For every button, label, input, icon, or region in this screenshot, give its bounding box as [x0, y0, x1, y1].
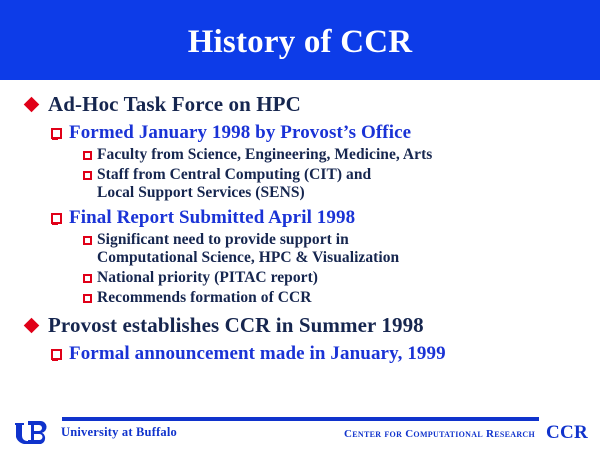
square-bullet-icon [83, 151, 92, 160]
page-title: History of CCR [0, 0, 600, 80]
bullet-level3-national-priority: National priority (PITAC report) [83, 269, 600, 287]
square-bullet-icon [83, 236, 92, 245]
bullet-text: Faculty from Science, Engineering, Medic… [97, 146, 432, 164]
slide-title-band: History of CCR [0, 0, 600, 80]
bullet-text: Significant need to provide support in C… [97, 231, 399, 267]
square-bullet-icon [51, 128, 62, 139]
bullet-text-line1: Significant need to provide support in [97, 231, 399, 249]
center-full-name: Center for Computational Research [344, 428, 535, 440]
bullet-text-line1: Staff from Central Computing (CIT) and [97, 166, 371, 184]
footer-divider [62, 417, 539, 421]
bullet-text: Formal announcement made in January, 199… [69, 342, 446, 365]
slide-body: Ad-Hoc Task Force on HPC Formed January … [0, 86, 600, 406]
bullet-text: Recommends formation of CCR [97, 289, 311, 307]
square-bullet-icon [51, 349, 62, 360]
bullet-level3-significant-need: Significant need to provide support in C… [83, 231, 600, 267]
bullet-level1-ad-hoc-task-force: Ad-Hoc Task Force on HPC [26, 92, 600, 117]
bullet-level3-recommends-formation: Recommends formation of CCR [83, 289, 600, 307]
bullet-level2-formed-january-1998: Formed January 1998 by Provost’s Office [51, 121, 600, 144]
square-bullet-icon [83, 171, 92, 180]
bullet-text: National priority (PITAC report) [97, 269, 318, 287]
bullet-text: Formed January 1998 by Provost’s Office [69, 121, 411, 144]
center-abbreviation: CCR [546, 422, 588, 444]
bullet-text-line2: Local Support Services (SENS) [97, 184, 371, 202]
university-name: University at Buffalo [61, 425, 177, 440]
bullet-text: Ad-Hoc Task Force on HPC [48, 92, 301, 117]
bullet-level1-provost-establishes-ccr: Provost establishes CCR in Summer 1998 [26, 313, 600, 338]
bullet-level2-formal-announcement: Formal announcement made in January, 199… [51, 342, 600, 365]
ub-logo-icon [14, 420, 54, 445]
bullet-text: Provost establishes CCR in Summer 1998 [48, 313, 424, 338]
square-bullet-icon [83, 274, 92, 283]
bullet-text: Final Report Submitted April 1998 [69, 206, 355, 229]
bullet-text: Staff from Central Computing (CIT) and L… [97, 166, 371, 202]
square-bullet-icon [83, 294, 92, 303]
bullet-text-line2: Computational Science, HPC & Visualizati… [97, 249, 399, 267]
diamond-bullet-icon [24, 318, 40, 334]
square-bullet-icon [51, 213, 62, 224]
bullet-level3-staff-from-central-computing: Staff from Central Computing (CIT) and L… [83, 166, 600, 202]
diamond-bullet-icon [24, 97, 40, 113]
bullet-level3-faculty-from-science: Faculty from Science, Engineering, Medic… [83, 146, 600, 164]
bullet-level2-final-report-submitted: Final Report Submitted April 1998 [51, 206, 600, 229]
